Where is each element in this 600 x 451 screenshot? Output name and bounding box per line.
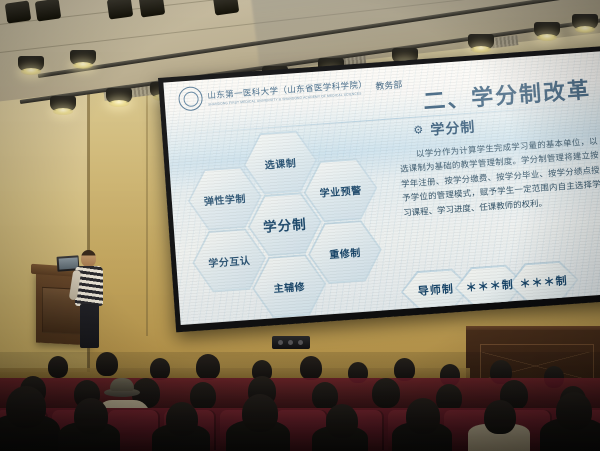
- slide-header: 山东第一医科大学（山东省医学科学院） SHANDONG FIRST MEDICA…: [178, 72, 403, 112]
- ceiling-spotlight: [70, 50, 96, 65]
- audience-head: [300, 356, 322, 380]
- audience-head: [74, 398, 108, 434]
- presenter-head: [81, 250, 96, 267]
- presentation-slide: 山东第一医科大学（山东省医学科学院） SHANDONG FIRST MEDICA…: [163, 51, 600, 325]
- audience-head: [406, 398, 440, 434]
- audience-head: [150, 358, 170, 380]
- hex-lower-right-label: 重修制: [329, 243, 361, 260]
- bottom-hex-row: 导师制 ＊＊＊制 ＊＊＊制: [400, 257, 600, 312]
- hanging-spotlight: [5, 0, 32, 23]
- hex-lower-left-label: 学分互认: [208, 251, 251, 269]
- bottom-hex-3-label: ＊＊＊制: [519, 272, 568, 291]
- audience-head: [326, 404, 358, 438]
- gear-icon: ⚙: [413, 125, 425, 137]
- wall-seam-secondary: [146, 86, 148, 336]
- audience-head: [484, 400, 516, 434]
- hexagon-diagram: 选课制 弹性学制 学业预警 学分制 学分互认: [175, 123, 399, 320]
- audience-head: [166, 402, 198, 436]
- ceiling-spotlight: [50, 96, 76, 111]
- ceiling-spotlight: [106, 88, 132, 103]
- presenter: [72, 250, 106, 346]
- hanging-spotlight: [35, 0, 62, 22]
- led-screen: 山东第一医科大学（山东省医学科学院） SHANDONG FIRST MEDICA…: [158, 46, 600, 333]
- hex-upper-right-label: 学业预警: [319, 181, 362, 199]
- hanging-spotlight: [107, 0, 134, 20]
- ceiling-spotlight: [534, 22, 560, 37]
- wall-loudspeaker: [272, 336, 310, 349]
- panel-heading: 学分制: [430, 116, 476, 139]
- audience-head: [242, 394, 278, 432]
- hat-crown: [110, 378, 134, 391]
- bottom-hex-1-label: 导师制: [417, 280, 454, 299]
- university-seal-icon: [178, 86, 204, 112]
- audience-head: [556, 392, 592, 430]
- panel-body-text: 以学分作为计算学生完成学习量的基本单位，以选课制为基础的教学管理制度。学分制管理…: [397, 133, 600, 220]
- audience-head: [190, 382, 216, 410]
- audience-head: [48, 356, 68, 378]
- ceiling-spotlight: [468, 34, 494, 49]
- hex-top-label: 选课制: [264, 154, 296, 171]
- bottom-hex-2-label: ＊＊＊制: [465, 276, 514, 295]
- hex-bottom-label: 主辅修: [273, 278, 305, 295]
- audience: [0, 352, 600, 451]
- hex-upper-left-label: 弹性学制: [203, 190, 246, 208]
- audience-head: [372, 378, 400, 408]
- department-label: 教务部: [375, 77, 403, 92]
- bottom-hex-3: ＊＊＊制: [507, 260, 580, 305]
- audience-head: [96, 352, 118, 376]
- ceiling-spotlight: [18, 56, 44, 71]
- hex-center-label: 学分制: [262, 213, 307, 236]
- audience-head: [196, 354, 220, 380]
- audience-head: [6, 386, 46, 428]
- ceiling-spotlight: [572, 14, 598, 29]
- definition-panel: ⚙ 学分制 以学分作为计算学生完成学习量的基本单位，以选课制为基础的教学管理制度…: [395, 108, 600, 221]
- lecture-hall-photo: 山东第一医科大学（山东省医学科学院） SHANDONG FIRST MEDICA…: [0, 0, 600, 451]
- presenter-legs: [80, 304, 99, 348]
